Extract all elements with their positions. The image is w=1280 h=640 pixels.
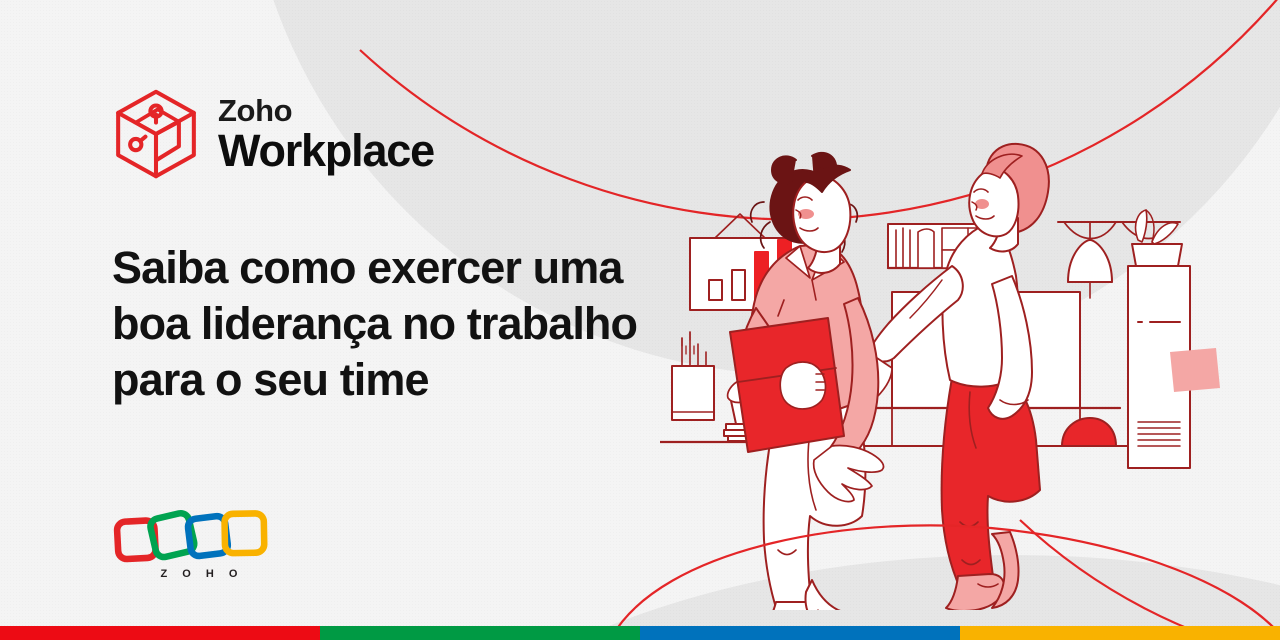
two-women-office-conversation-illustration	[660, 140, 1220, 610]
logo-brand-text: Zoho	[218, 95, 434, 126]
yellow-segment	[960, 626, 1280, 640]
zoho-workplace-banner: Zoho Workplace Saiba como exercer uma bo…	[0, 0, 1280, 640]
zoho-workplace-logo[interactable]: Zoho Workplace	[112, 88, 434, 180]
page-title: Saiba como exercer uma boa liderança no …	[112, 240, 692, 407]
red-round-object	[1062, 418, 1116, 446]
blue-segment	[640, 626, 960, 640]
green-segment	[320, 626, 640, 640]
logo-product-text: Workplace	[218, 128, 434, 173]
zoho-logo[interactable]: Z O H O	[112, 508, 272, 580]
zoho-four-squares-icon	[112, 508, 272, 566]
brand-color-bar	[0, 626, 1280, 640]
zoho-wordmark: Z O H O	[112, 568, 272, 580]
red-segment	[0, 626, 320, 640]
zoho-workplace-cube-icon	[112, 88, 200, 180]
woman-with-red-folder	[728, 153, 884, 610]
cabinet-with-sticky-note	[1128, 210, 1220, 468]
pen-holder	[672, 332, 714, 420]
